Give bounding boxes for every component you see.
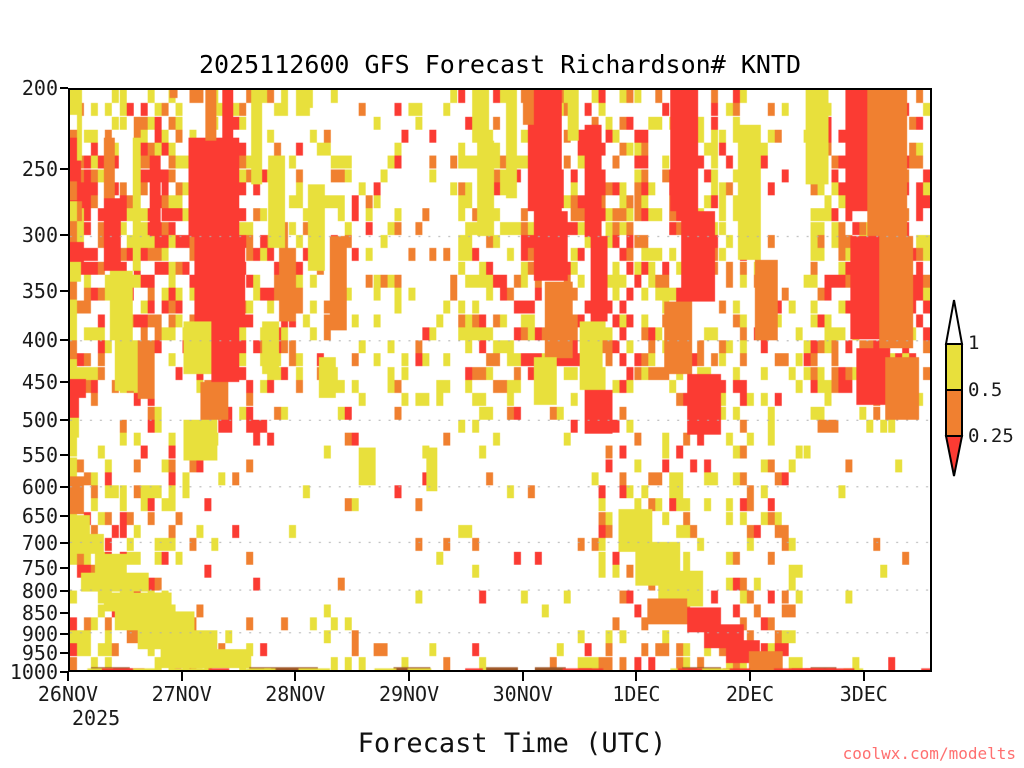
- y-tick-mark-550: [60, 454, 68, 456]
- colorbar: [938, 296, 972, 478]
- y-tick-label-700: 700: [0, 533, 58, 553]
- x-tick-label-29NOV: 29NOV: [349, 682, 469, 706]
- x-axis-year-label: 2025: [72, 706, 120, 730]
- y-tick-mark-950: [60, 652, 68, 654]
- x-tick-label-30NOV: 30NOV: [463, 682, 583, 706]
- y-tick-label-750: 750: [0, 558, 58, 578]
- x-tick-label-28NOV: 28NOV: [235, 682, 355, 706]
- y-tick-mark-450: [60, 381, 68, 383]
- y-tick-mark-750: [60, 567, 68, 569]
- y-tick-label-300: 300: [0, 225, 58, 245]
- heatmap-canvas: [70, 90, 930, 670]
- y-tick-label-400: 400: [0, 330, 58, 350]
- y-tick-label-1000: 1000: [0, 662, 58, 682]
- colorbar-label-0.5: 0.5: [968, 379, 1002, 401]
- y-tick-mark-200: [60, 87, 68, 89]
- y-tick-mark-650: [60, 515, 68, 517]
- y-tick-mark-600: [60, 486, 68, 488]
- plot-area: [68, 88, 932, 672]
- y-tick-mark-300: [60, 234, 68, 236]
- x-tick-mark-1DEC: [635, 672, 637, 681]
- y-tick-label-500: 500: [0, 410, 58, 430]
- y-tick-mark-850: [60, 612, 68, 614]
- x-tick-mark-29NOV: [408, 672, 410, 681]
- y-tick-mark-700: [60, 542, 68, 544]
- x-tick-label-3DEC: 3DEC: [804, 682, 924, 706]
- y-tick-label-600: 600: [0, 477, 58, 497]
- y-tick-label-850: 850: [0, 603, 58, 623]
- y-tick-mark-250: [60, 168, 68, 170]
- x-tick-mark-2DEC: [749, 672, 751, 681]
- colorbar-label-1: 1: [968, 332, 979, 354]
- colorbar-over-arrow: [946, 300, 962, 344]
- x-tick-mark-30NOV: [522, 672, 524, 681]
- y-tick-label-450: 450: [0, 372, 58, 392]
- y-tick-mark-400: [60, 339, 68, 341]
- colorbar-band-yellow: [946, 344, 962, 390]
- y-tick-label-550: 550: [0, 445, 58, 465]
- watermark: coolwx.com/modelts: [843, 744, 1016, 763]
- x-tick-mark-3DEC: [863, 672, 865, 681]
- y-tick-label-800: 800: [0, 581, 58, 601]
- x-tick-label-27NOV: 27NOV: [122, 682, 242, 706]
- x-tick-label-2DEC: 2DEC: [690, 682, 810, 706]
- y-tick-mark-800: [60, 590, 68, 592]
- y-tick-label-200: 200: [0, 78, 58, 98]
- colorbar-band-orange: [946, 390, 962, 436]
- x-tick-mark-28NOV: [294, 672, 296, 681]
- colorbar-svg: [938, 296, 972, 478]
- y-tick-mark-900: [60, 633, 68, 635]
- y-tick-label-350: 350: [0, 281, 58, 301]
- chart-title: 2025112600 GFS Forecast Richardson# KNTD: [0, 50, 1000, 79]
- x-tick-mark-26NOV: [67, 672, 69, 681]
- y-tick-label-250: 250: [0, 159, 58, 179]
- y-tick-mark-500: [60, 419, 68, 421]
- y-tick-mark-350: [60, 290, 68, 292]
- y-tick-label-650: 650: [0, 506, 58, 526]
- x-tick-mark-27NOV: [181, 672, 183, 681]
- colorbar-label-0.25: 0.25: [968, 425, 1014, 447]
- x-tick-label-1DEC: 1DEC: [576, 682, 696, 706]
- colorbar-under-arrow: [946, 436, 962, 476]
- x-tick-label-26NOV: 26NOV: [8, 682, 128, 706]
